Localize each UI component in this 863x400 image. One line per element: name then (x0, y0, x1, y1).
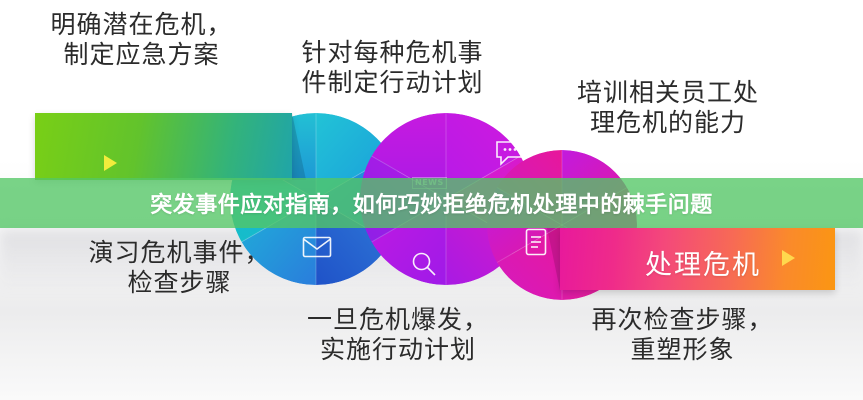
caption-train-staff: 培训相关员工处 理危机的能力 (548, 78, 788, 137)
green-teal-bar[interactable] (35, 113, 292, 180)
headline-banner: 突发事件应对指南，如何巧妙拒绝危机处理中的棘手问题 (0, 178, 863, 228)
search-icon (410, 250, 438, 278)
headline-text: 突发事件应对指南，如何巧妙拒绝危机处理中的棘手问题 (150, 187, 713, 219)
caption-recheck-rebuild: 再次检查步骤， 重塑形象 (560, 305, 805, 364)
caption-action-plan: 针对每种危机事 件制定行动计划 (275, 38, 510, 97)
caption-identify-risk: 明确潜在危机， 制定应急方案 (24, 10, 259, 69)
handle-crisis-label: 处理危机 (645, 243, 761, 282)
caption-execute-plan: 一旦危机爆发， 实施行动计划 (278, 305, 518, 364)
play-triangle-icon-right (782, 250, 795, 266)
play-triangle-icon-left (104, 155, 117, 171)
document-icon (525, 228, 547, 256)
envelope-icon (302, 236, 332, 258)
caption-drill-check: 演习危机事件， 检查步骤 (62, 238, 297, 297)
infographic-canvas: NEWS (0, 0, 863, 400)
